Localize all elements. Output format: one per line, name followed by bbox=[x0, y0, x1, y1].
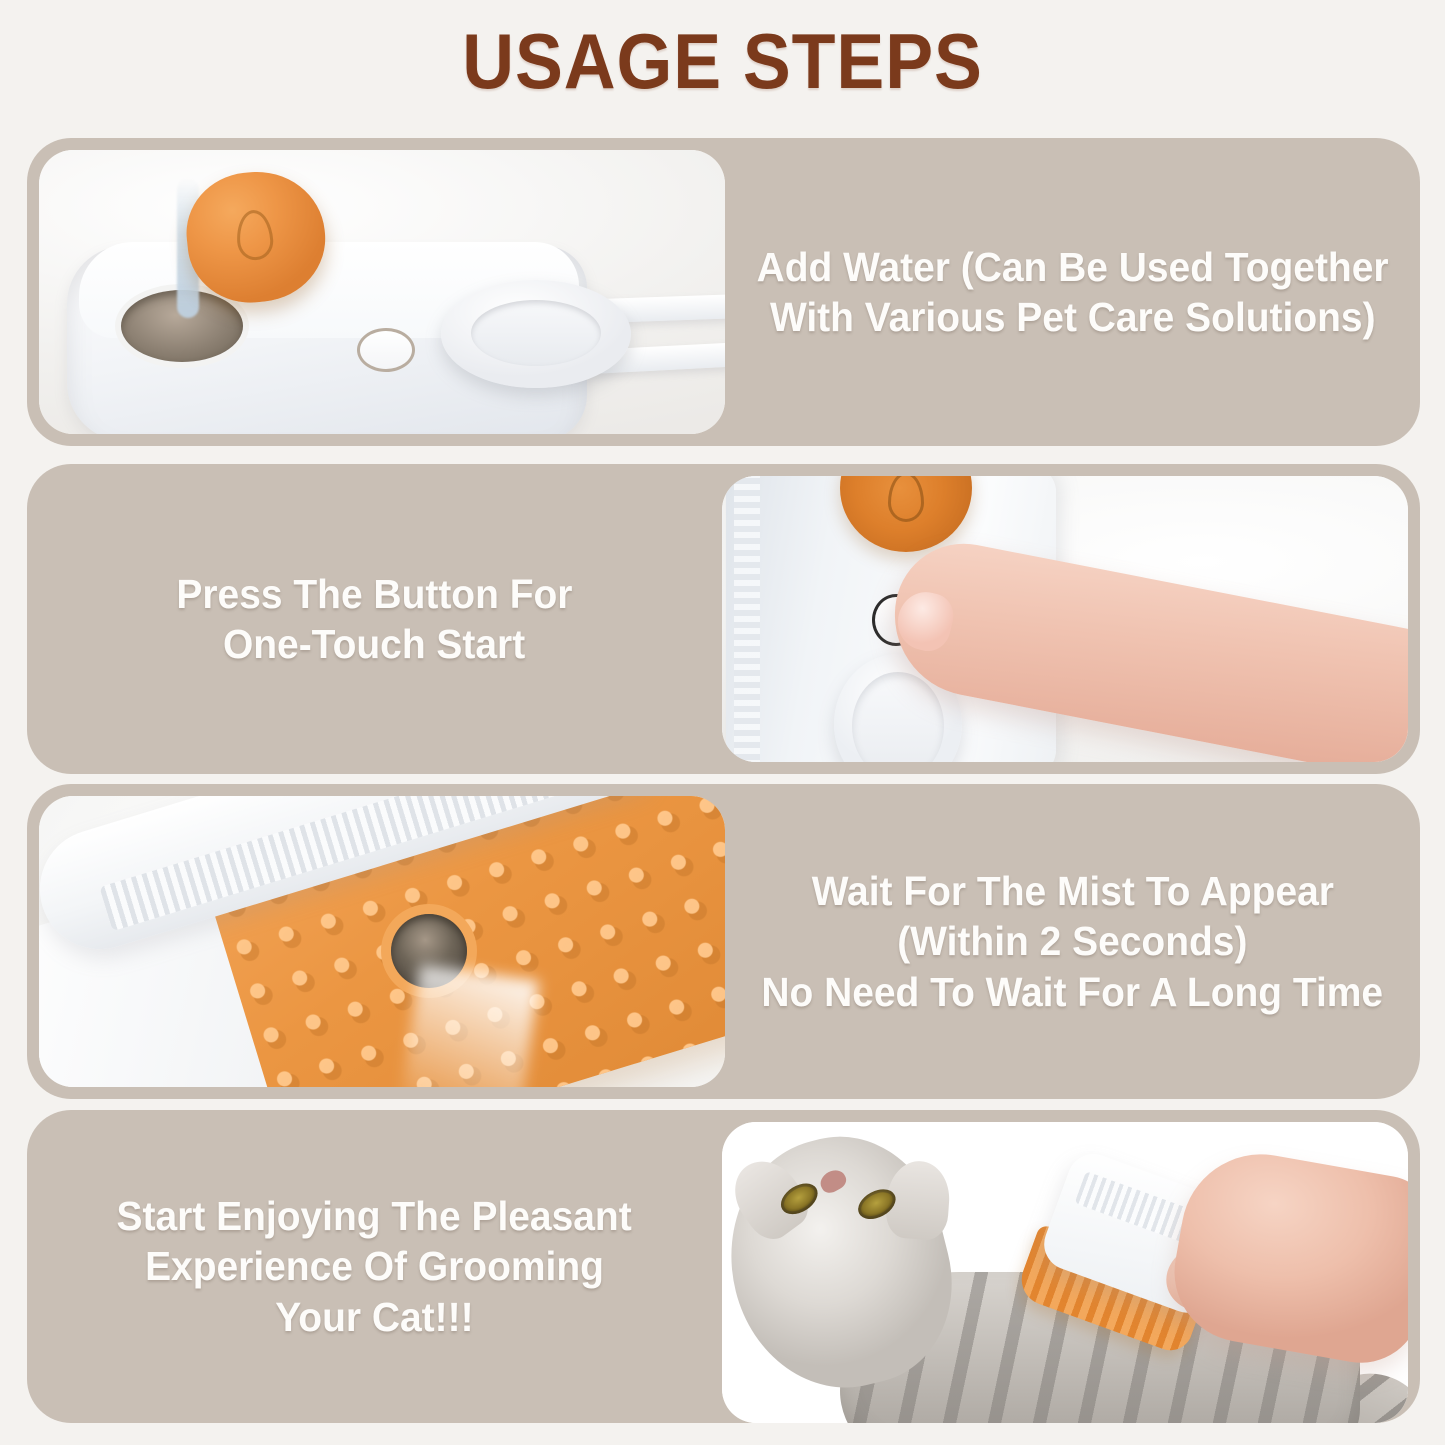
step-3-line-3: No Need To Wait For A Long Time bbox=[762, 967, 1384, 1017]
step-3-line-1: Wait For The Mist To Appear bbox=[811, 866, 1333, 916]
photo-press-button bbox=[722, 476, 1408, 762]
photo-grooming-cat bbox=[722, 1122, 1408, 1423]
step-3-line-2: (Within 2 Seconds) bbox=[897, 916, 1247, 966]
step-card-1: Add Water (Can Be Used Together With Var… bbox=[27, 138, 1420, 446]
page-title: USAGE STEPS bbox=[58, 16, 1387, 107]
ribbed-edge bbox=[734, 476, 760, 762]
step-4-line-2: Experience Of Grooming bbox=[145, 1241, 604, 1291]
step-4-line-3: Your Cat!!! bbox=[275, 1292, 473, 1342]
step-card-4: Start Enjoying The Pleasant Experience O… bbox=[27, 1110, 1420, 1423]
step-2-caption: Press The Button For One-Touch Start bbox=[41, 464, 708, 774]
step-card-2: Press The Button For One-Touch Start bbox=[27, 464, 1420, 774]
step-1-line-2: With Various Pet Care Solutions) bbox=[770, 292, 1376, 342]
step-2-line-1: Press The Button For bbox=[176, 569, 572, 619]
step-4-caption: Start Enjoying The Pleasant Experience O… bbox=[41, 1110, 708, 1423]
infographic-page: USAGE STEPS Add Water (Can Be Used Toget… bbox=[0, 0, 1445, 1445]
photo-add-water bbox=[39, 150, 725, 434]
photo-mist-nozzle bbox=[39, 796, 725, 1087]
mist-plume bbox=[399, 964, 539, 1087]
cat-nose bbox=[817, 1166, 849, 1196]
step-4-line-1: Start Enjoying The Pleasant bbox=[117, 1191, 632, 1241]
step-card-3: Wait For The Mist To Appear (Within 2 Se… bbox=[27, 784, 1420, 1099]
power-button-ring-icon bbox=[357, 328, 415, 372]
step-3-caption: Wait For The Mist To Appear (Within 2 Se… bbox=[739, 784, 1406, 1099]
step-2-line-2: One-Touch Start bbox=[223, 619, 525, 669]
handle-knob bbox=[441, 280, 631, 388]
step-1-caption: Add Water (Can Be Used Together With Var… bbox=[739, 138, 1406, 446]
step-1-line-1: Add Water (Can Be Used Together bbox=[757, 242, 1389, 292]
